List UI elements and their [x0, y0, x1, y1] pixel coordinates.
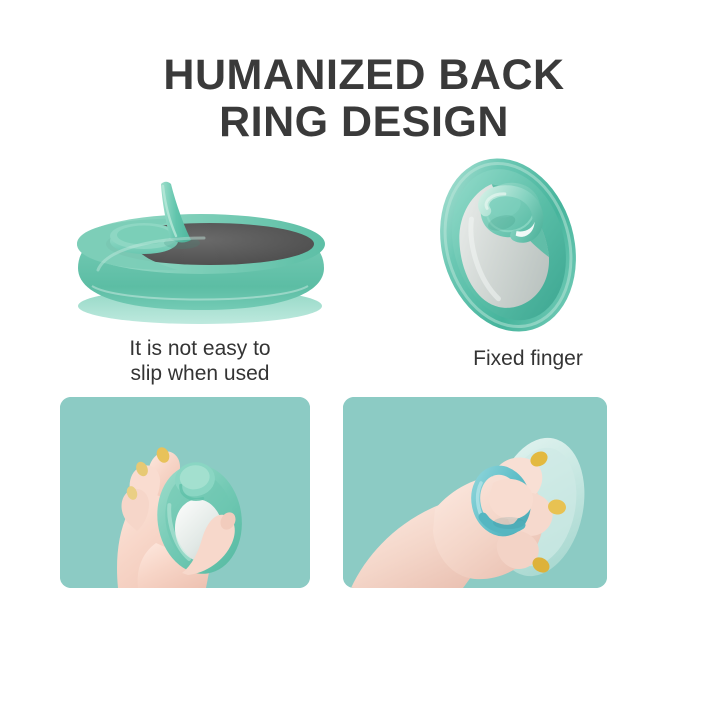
page-title: HUMANIZED BACK RING DESIGN — [0, 52, 728, 146]
feature-row: It is not easy to slip when used — [0, 150, 728, 390]
feature-anti-slip-caption: It is not easy to slip when used — [40, 336, 360, 386]
photo-finger-through-ring — [343, 397, 607, 588]
feature-fixed-finger-illustration — [368, 150, 688, 335]
device-side-view-icon — [58, 178, 343, 328]
device-angled-view-icon — [408, 150, 608, 340]
page-title-line-2: RING DESIGN — [0, 99, 728, 146]
caption-line-1: It is not easy to — [40, 336, 360, 361]
feature-anti-slip: It is not easy to slip when used — [40, 150, 360, 390]
finger-through-ring-illustration — [343, 397, 607, 588]
caption-line-2: slip when used — [40, 361, 360, 386]
photo-row — [0, 397, 728, 589]
feature-anti-slip-illustration — [40, 150, 360, 335]
feature-fixed-finger-caption: Fixed finger — [368, 346, 688, 371]
caption-line-1: Fixed finger — [368, 346, 688, 371]
infographic-page: HUMANIZED BACK RING DESIGN — [0, 0, 728, 709]
page-title-line-1: HUMANIZED BACK — [0, 52, 728, 99]
feature-fixed-finger: Fixed finger — [368, 150, 688, 390]
photo-hand-holding-device — [60, 397, 310, 588]
hand-holding-device-illustration — [60, 397, 310, 588]
